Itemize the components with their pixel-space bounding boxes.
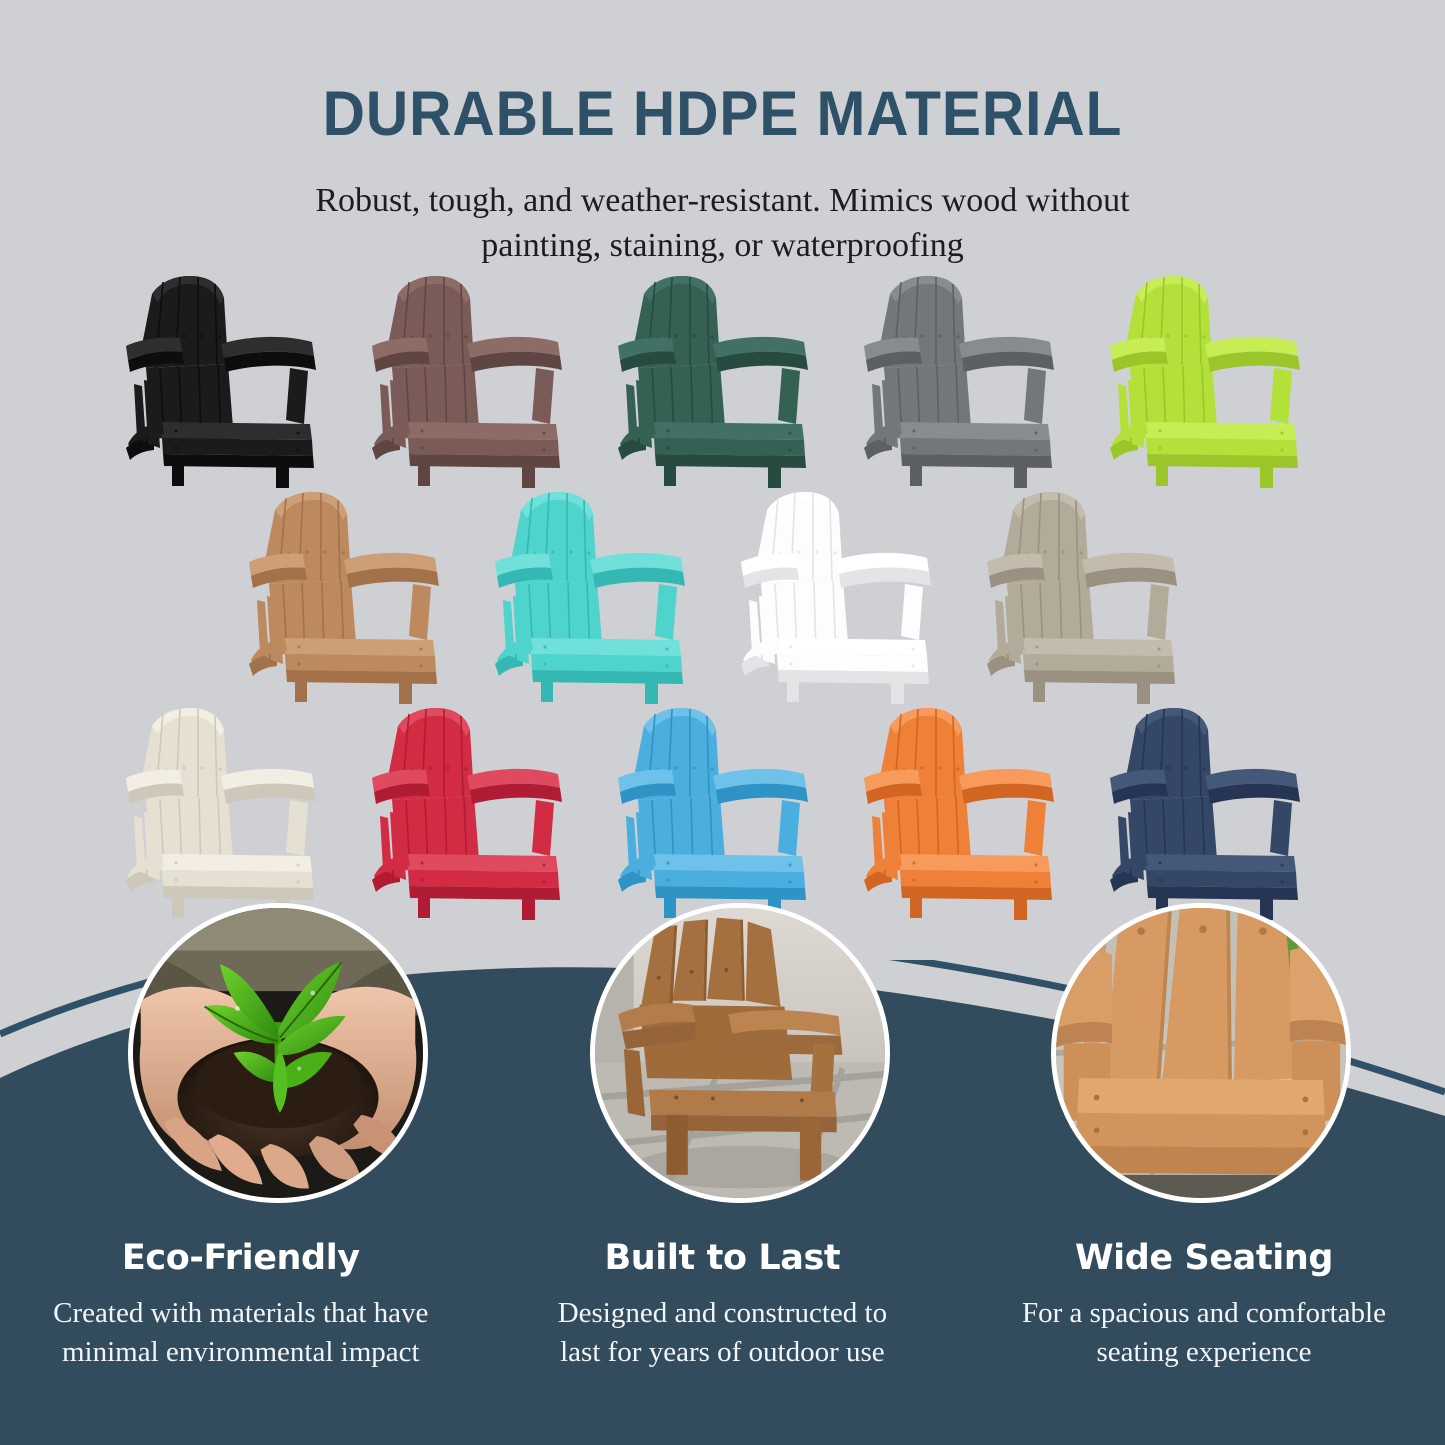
feature-description: For a spacious and comfortable seating e…	[989, 1294, 1419, 1371]
feature-title: Wide Seating	[989, 1238, 1419, 1278]
seat-closeup-illustration	[1056, 908, 1346, 1198]
photo-hands-holding-seedling	[128, 903, 428, 1203]
feature-desc-line-2: last for years of outdoor use	[560, 1336, 885, 1368]
feature-title: Built to Last	[508, 1238, 938, 1278]
feature-description: Designed and constructed to last for yea…	[508, 1294, 938, 1371]
feature-built-to-last: Built to Last Designed and constructed t…	[482, 1238, 964, 1371]
feature-caption-row: Eco-Friendly Created with materials that…	[0, 1238, 1445, 1371]
feature-photo-row	[0, 0, 1445, 1445]
feature-desc-line-1: Created with materials that have	[53, 1297, 428, 1329]
feature-desc-line-1: For a spacious and comfortable	[1022, 1297, 1386, 1329]
photo-teak-chair-on-patio	[590, 903, 890, 1203]
hands-seedling-illustration	[133, 908, 423, 1198]
promo-banner: DURABLE HDPE MATERIAL Robust, tough, and…	[0, 0, 1445, 1445]
feature-wide-seating: Wide Seating For a spacious and comforta…	[963, 1238, 1445, 1371]
feature-desc-line-2: minimal environmental impact	[62, 1336, 420, 1368]
feature-eco-friendly: Eco-Friendly Created with materials that…	[0, 1238, 482, 1371]
feature-description: Created with materials that have minimal…	[26, 1294, 456, 1371]
photo-chair-seat-closeup	[1051, 903, 1351, 1203]
feature-desc-line-1: Designed and constructed to	[558, 1297, 887, 1329]
patio-chair-illustration	[595, 908, 885, 1198]
feature-title: Eco-Friendly	[26, 1238, 456, 1278]
feature-desc-line-2: seating experience	[1097, 1336, 1312, 1368]
